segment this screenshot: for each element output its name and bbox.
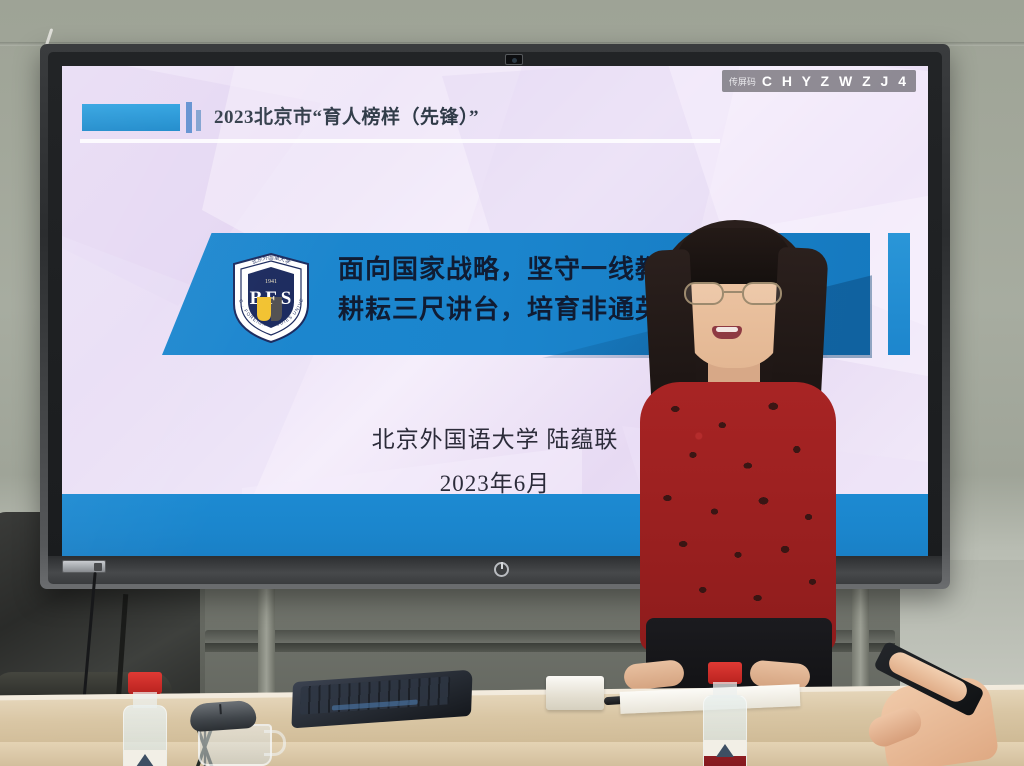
bfsu-university-logo: 1941 B F S 北京外国语大学 BEIJING · FOREIGN STU… bbox=[230, 252, 312, 344]
power-button-icon[interactable] bbox=[494, 562, 509, 577]
white-box[interactable] bbox=[546, 676, 604, 710]
conference-room-photo: 2023北京市“育人榜样（先锋）” 1941 B F S bbox=[0, 0, 1024, 766]
screen-share-code-watermark: 传屏码 C H Y Z W Z J 4 bbox=[722, 70, 916, 92]
slide-header-title: 2023北京市“育人榜样（先锋）” bbox=[214, 102, 479, 129]
water-bottle-left[interactable] bbox=[120, 672, 172, 766]
watermark-label: 传屏码 bbox=[729, 75, 756, 88]
slide-header-rule bbox=[80, 139, 720, 143]
svg-text:S: S bbox=[281, 288, 292, 309]
eyeglass-lens-right bbox=[742, 282, 782, 305]
slide-header-tick bbox=[196, 110, 201, 131]
bottle-cap bbox=[708, 662, 742, 684]
blouse-leopard-pattern bbox=[640, 382, 836, 652]
eyeglass-bridge bbox=[724, 291, 742, 293]
bottle-label bbox=[704, 740, 746, 766]
eyeglasses-icon bbox=[682, 282, 786, 306]
slide-header-accent-bar bbox=[82, 104, 180, 131]
bottle-label bbox=[124, 750, 166, 766]
eyeglass-lens-left bbox=[684, 282, 724, 305]
presenter-blouse bbox=[640, 382, 836, 652]
banner-side-tab bbox=[888, 233, 910, 355]
svg-text:1941: 1941 bbox=[265, 279, 277, 285]
watermark-code: C H Y Z W Z J 4 bbox=[762, 73, 909, 89]
presenter-speaker bbox=[600, 210, 870, 690]
usb-port-icon[interactable] bbox=[62, 560, 106, 573]
presenter-hair-fringe bbox=[676, 228, 792, 284]
mug-handle bbox=[264, 730, 286, 756]
smartphone-in-hands[interactable] bbox=[860, 658, 1024, 766]
bottle-cap bbox=[128, 672, 162, 694]
wireless-mouse[interactable] bbox=[189, 700, 257, 733]
presenter-mouth bbox=[712, 326, 742, 339]
water-bottle-right[interactable] bbox=[700, 662, 752, 766]
webcam-icon bbox=[505, 54, 523, 65]
slide-header-tick bbox=[186, 102, 192, 133]
